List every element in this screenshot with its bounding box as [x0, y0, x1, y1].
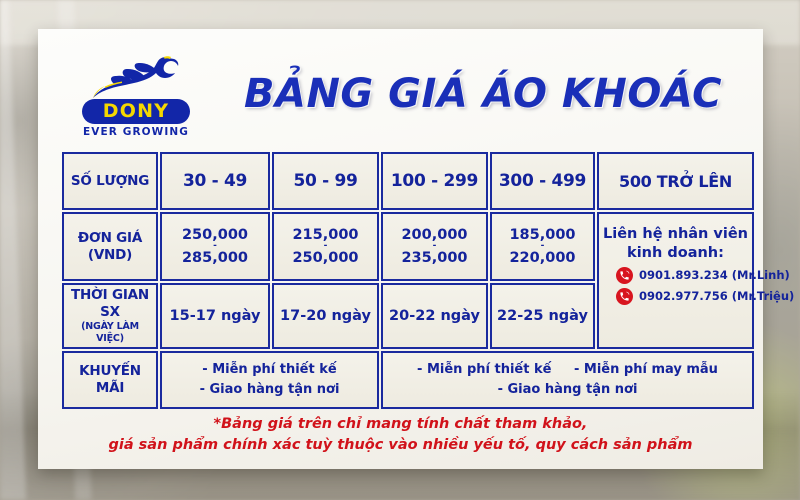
lead-time-2: 17-20 ngày — [272, 283, 379, 349]
promotion-large-orders: - Miễn phí thiết kế - Miễn phí may mẫu -… — [381, 351, 754, 409]
contact-phone-item[interactable]: 0902.977.756 (Mr.Triệu) — [616, 288, 749, 305]
quantity-tier-3: 100 - 299 — [381, 152, 488, 210]
table-row-unit-price: ĐƠN GIÁ (VND) 250,000 - 285,000 215,000 … — [62, 212, 754, 281]
lead-time-1: 15-17 ngày — [160, 283, 270, 349]
disclaimer-line-2: giá sản phẩm chính xác tuỳ thuộc vào nhi… — [38, 435, 763, 456]
contact-phone-number: 0902.977.756 (Mr.Triệu) — [639, 289, 794, 303]
unit-price-3: 200,000 - 235,000 — [381, 212, 488, 281]
quantity-tier-4: 300 - 499 — [490, 152, 595, 210]
white-card: DONY EVER GROWING BẢNG GIÁ ÁO KHOÁC SỐ L… — [38, 29, 763, 469]
row-label-unit-price-main: ĐƠN GIÁ — [78, 230, 142, 246]
row-label-unit-price-sub: (VND) — [67, 247, 153, 264]
promotion-large-item: - Giao hàng tận nơi — [498, 380, 638, 400]
unit-price-1: 250,000 - 285,000 — [160, 212, 270, 281]
page-title: BẢNG GIÁ ÁO KHOÁC — [228, 71, 738, 117]
contact-phone-item[interactable]: 0901.893.234 (Mr.Linh) — [616, 267, 749, 284]
unit-price-3-to: 235,000 — [401, 250, 467, 266]
table-row-promotion: KHUYẾN MÃI - Miễn phí thiết kế - Giao hà… — [62, 351, 754, 409]
quantity-tier-1: 30 - 49 — [160, 152, 270, 210]
quantity-tier-5: 500 TRỞ LÊN — [597, 152, 754, 210]
unit-price-2-sep: - — [277, 244, 374, 249]
price-list-poster: DONY EVER GROWING BẢNG GIÁ ÁO KHOÁC SỐ L… — [0, 0, 800, 500]
contact-title-line2: kinh doanh: — [602, 244, 749, 263]
dony-wordmark-pill: DONY — [82, 99, 190, 124]
promotion-large-item: - Miễn phí thiết kế — [417, 360, 551, 380]
unit-price-4-to: 220,000 — [509, 250, 575, 266]
brand-tagline: EVER GROWING — [70, 126, 202, 138]
unit-price-2: 215,000 - 250,000 — [272, 212, 379, 281]
promotion-small-orders: - Miễn phí thiết kế - Giao hàng tận nơi — [160, 351, 379, 409]
promotion-small-item: - Giao hàng tận nơi — [165, 380, 374, 400]
row-label-lead-time-main: THỜI GIAN SX — [71, 287, 149, 320]
price-table: SỐ LƯỢNG 30 - 49 50 - 99 100 - 299 300 -… — [60, 150, 756, 411]
dony-logo: DONY EVER GROWING — [70, 55, 202, 143]
contact-phone-list: 0901.893.234 (Mr.Linh) 0902.977.756 (Mr. — [602, 267, 749, 305]
unit-price-2-to: 250,000 — [292, 250, 358, 266]
kangaroo-icon — [86, 55, 186, 102]
unit-price-3-sep: - — [386, 244, 483, 249]
unit-price-1-sep: - — [165, 244, 265, 249]
contact-title: Liên hệ nhân viên kinh doanh: — [602, 225, 749, 263]
disclaimer-line-1: *Bảng giá trên chỉ mang tính chất tham k… — [38, 414, 763, 435]
promotion-small-item: - Miễn phí thiết kế — [165, 360, 374, 380]
unit-price-4: 185,000 - 220,000 — [490, 212, 595, 281]
row-label-quantity: SỐ LƯỢNG — [62, 152, 158, 210]
unit-price-4-sep: - — [495, 244, 590, 249]
row-label-lead-time: THỜI GIAN SX (NGÀY LÀM VIỆC) — [62, 283, 158, 349]
dony-wordmark-text: DONY — [82, 99, 190, 124]
lead-time-3: 20-22 ngày — [381, 283, 488, 349]
row-label-lead-time-sub: (NGÀY LÀM VIỆC) — [67, 321, 153, 345]
disclaimer-note: *Bảng giá trên chỉ mang tính chất tham k… — [38, 414, 763, 456]
table-row-quantity: SỐ LƯỢNG 30 - 49 50 - 99 100 - 299 300 -… — [62, 152, 754, 210]
row-label-promotion: KHUYẾN MÃI — [62, 351, 158, 409]
lead-time-4: 22-25 ngày — [490, 283, 595, 349]
phone-icon — [616, 267, 633, 284]
poster-header: DONY EVER GROWING BẢNG GIÁ ÁO KHOÁC — [38, 39, 763, 149]
contact-title-line1: Liên hệ nhân viên — [602, 225, 749, 244]
phone-icon — [616, 288, 633, 305]
contact-cell: Liên hệ nhân viên kinh doanh: — [597, 212, 754, 349]
quantity-tier-2: 50 - 99 — [272, 152, 379, 210]
row-label-unit-price: ĐƠN GIÁ (VND) — [62, 212, 158, 281]
unit-price-1-to: 285,000 — [182, 250, 248, 266]
contact-phone-number: 0901.893.234 (Mr.Linh) — [639, 268, 790, 282]
promotion-large-item: - Miễn phí may mẫu — [574, 360, 718, 380]
